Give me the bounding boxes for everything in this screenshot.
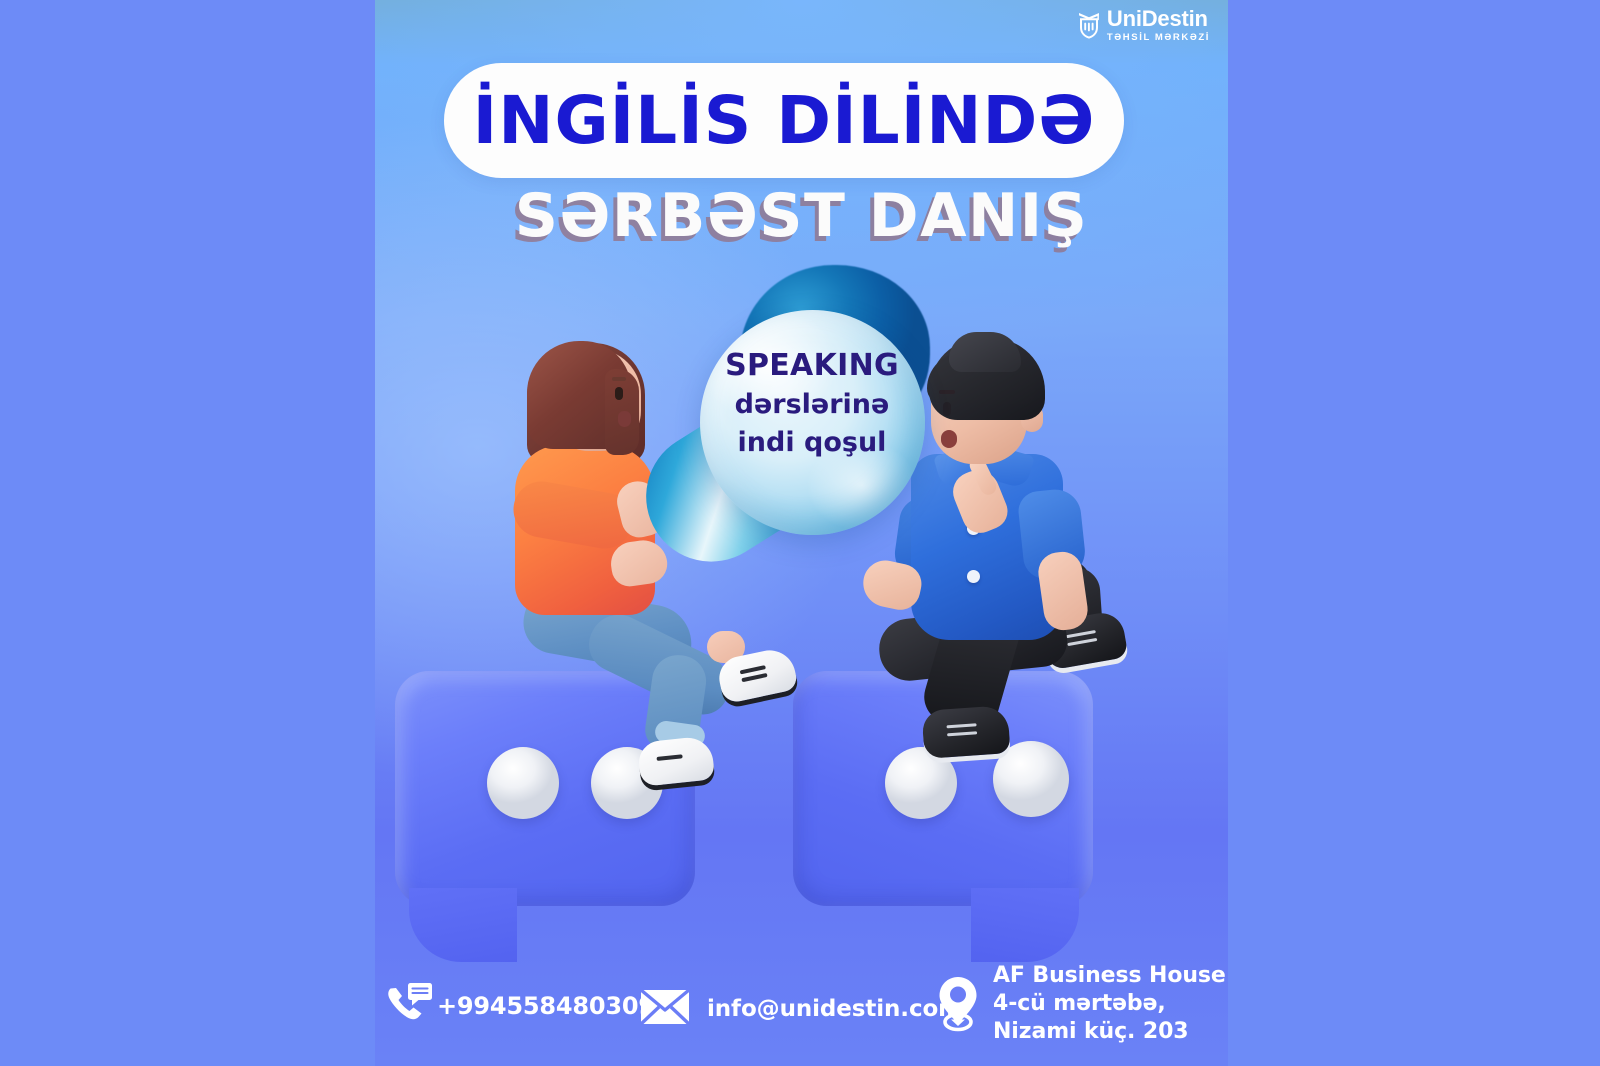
phone-number: +994558480309 [437,992,655,1020]
headline-text: İNGİLİS DİLİNDƏ [473,88,1096,154]
address-line-1: AF Business House [993,962,1226,990]
subheadline-text: SƏRBƏST DANIŞ [515,186,1089,246]
headline-pill: İNGİLİS DİLİNDƏ [444,63,1124,178]
woman-eyebrow [612,377,626,381]
brand-logo[interactable]: UniDestin TƏHSİL MƏRKƏZİ [1076,8,1210,43]
phone-chat-icon [383,980,435,1032]
subheadline: SƏRBƏST DANIŞ [375,186,1228,246]
address-line-3: Nizami küç. 203 [993,1018,1226,1046]
brand-name: UniDestin [1107,8,1210,30]
location-pin-icon [937,976,979,1036]
envelope-icon [639,988,691,1030]
man-shirt-button [967,570,980,583]
typing-dot [487,747,559,819]
brand-tagline: TƏHSİL MƏRKƏZİ [1107,33,1210,43]
bubble-text: SPEAKING dərslərinə indi qoşul [692,347,932,460]
bubble-line-2: dərslərinə [692,388,932,423]
address-line-2: 4-cü mərtəbə, [993,990,1226,1018]
email-address: info@unidestin.com [707,996,962,1022]
woman-shoe [637,735,715,786]
contact-phone[interactable]: +994558480309 [383,980,655,1032]
contact-email[interactable]: info@unidestin.com [639,988,962,1030]
screenshot-canvas: UniDestin TƏHSİL MƏRKƏZİ İNGİLİS DİLİNDƏ… [0,0,1600,1066]
bubble-line-1: SPEAKING [692,347,932,385]
speaking-bubble-cluster: SPEAKING dərslərinə indi qoşul [640,265,960,565]
brand-text: UniDestin TƏHSİL MƏRKƏZİ [1107,8,1210,43]
address-lines: AF Business House 4-cü mərtəbə, Nizami k… [993,962,1226,1046]
graduation-cap-shield-icon [1076,11,1102,39]
bubble-line-3: indi qoşul [692,426,932,461]
man-shoe [921,705,1010,759]
woman-mouth [618,411,631,427]
contact-footer: +994558480309 info@unidestin.com [375,938,1228,1066]
woman-eye [615,387,623,400]
contact-address[interactable]: AF Business House 4-cü mərtəbə, Nizami k… [937,962,1226,1046]
promotional-poster: UniDestin TƏHSİL MƏRKƏZİ İNGİLİS DİLİNDƏ… [375,0,1228,1066]
